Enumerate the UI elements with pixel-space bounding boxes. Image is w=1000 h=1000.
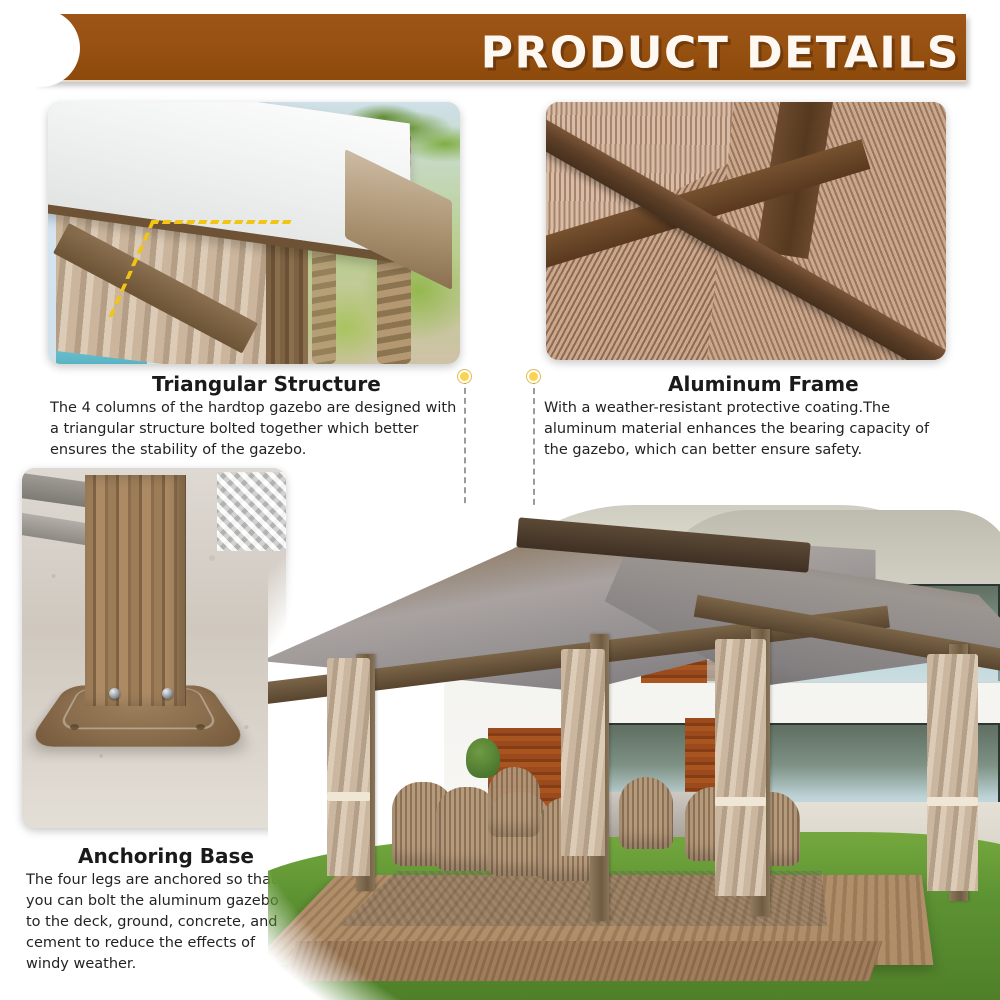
triangular-structure-photo bbox=[48, 102, 460, 364]
page-title: PRODUCT DETAILS bbox=[481, 28, 960, 79]
aluminum-frame-title: Aluminum Frame bbox=[668, 372, 859, 396]
connector-dot-triangular-top bbox=[458, 370, 471, 383]
triangular-structure-title: Triangular Structure bbox=[152, 372, 381, 396]
gazebo-curtain-right bbox=[927, 654, 978, 892]
palm-trunk-secondary bbox=[312, 238, 336, 364]
aluminum-post bbox=[85, 475, 185, 705]
house-plant bbox=[466, 738, 500, 778]
anchoring-base-description: The four legs are anchored so that you c… bbox=[26, 870, 294, 975]
connector-dot-frame-top bbox=[527, 370, 540, 383]
curtain-tie-left bbox=[327, 792, 371, 801]
anchor-bolt-left bbox=[109, 688, 120, 699]
gazebo-curtain-center-right bbox=[715, 639, 766, 896]
anchoring-base-title: Anchoring Base bbox=[78, 844, 254, 868]
anchor-bolt-right bbox=[162, 688, 173, 699]
header-banner: PRODUCT DETAILS bbox=[0, 14, 1000, 92]
product-details-page: PRODUCT DETAILS bbox=[0, 0, 1000, 1000]
dining-chair bbox=[619, 777, 673, 849]
scene-mask bbox=[268, 505, 1000, 1000]
triangular-structure-description: The 4 columns of the hardtop gazebo are … bbox=[50, 398, 462, 461]
gazebo-curtain-left bbox=[327, 658, 371, 876]
main-gazebo-scene bbox=[268, 505, 1000, 1000]
anchor-hole-right bbox=[196, 724, 205, 730]
curtain-tie-right bbox=[927, 797, 978, 806]
dining-chair bbox=[488, 767, 540, 837]
anchor-hole-left bbox=[70, 724, 79, 730]
gazebo-curtain-center-left bbox=[561, 649, 605, 857]
anchoring-base-photo bbox=[22, 468, 286, 828]
deck-edge-boards bbox=[284, 941, 882, 981]
curtain-tie-center bbox=[715, 797, 766, 806]
aluminum-frame-description: With a weather-resistant protective coat… bbox=[544, 398, 948, 461]
aluminum-frame-photo bbox=[546, 102, 946, 360]
